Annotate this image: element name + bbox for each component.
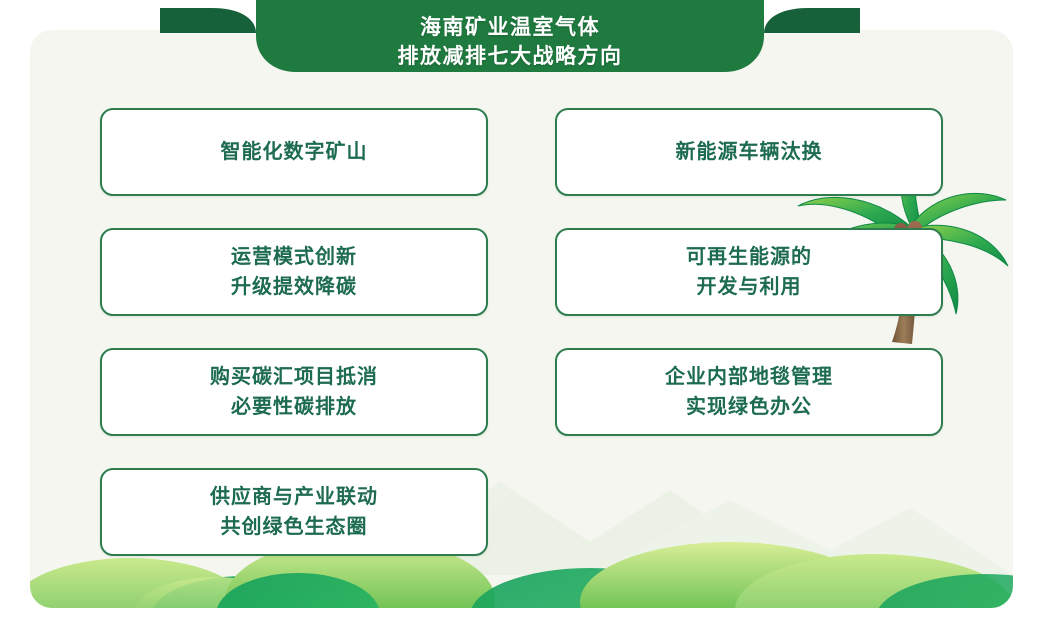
strategy-card[interactable]: 企业内部地毯管理 实现绿色办公: [555, 348, 943, 436]
card-line-1: 购买碳汇项目抵消: [210, 362, 378, 392]
content-panel: 智能化数字矿山 运营模式创新 升级提效降碳 购买碳汇项目抵消 必要性碳排放 供应…: [30, 30, 1013, 608]
card-column-left: 智能化数字矿山 运营模式创新 升级提效降碳 购买碳汇项目抵消 必要性碳排放 供应…: [100, 108, 488, 588]
strategy-card[interactable]: 可再生能源的 开发与利用: [555, 228, 943, 316]
infographic-canvas: 智能化数字矿山 运营模式创新 升级提效降碳 购买碳汇项目抵消 必要性碳排放 供应…: [0, 0, 1042, 626]
card-line-1: 供应商与产业联动: [210, 482, 378, 512]
strategy-card[interactable]: 智能化数字矿山: [100, 108, 488, 196]
card-line-2: 必要性碳排放: [231, 392, 357, 422]
banner-line-2: 排放减排七大战略方向: [398, 43, 623, 70]
strategy-card[interactable]: 新能源车辆汰换: [555, 108, 943, 196]
strategy-card[interactable]: 运营模式创新 升级提效降碳: [100, 228, 488, 316]
card-line-2: 开发与利用: [697, 272, 802, 302]
banner-text-block: 海南矿业温室气体 排放减排七大战略方向: [160, 0, 860, 84]
card-line-1: 智能化数字矿山: [221, 137, 368, 167]
card-line-1: 新能源车辆汰换: [676, 137, 823, 167]
card-line-1: 企业内部地毯管理: [665, 362, 833, 392]
card-line-2: 共创绿色生态圈: [221, 512, 368, 542]
card-line-2: 实现绿色办公: [686, 392, 812, 422]
banner-line-1: 海南矿业温室气体: [420, 14, 600, 41]
card-line-1: 可再生能源的: [686, 242, 812, 272]
title-banner: 海南矿业温室气体 排放减排七大战略方向: [160, 0, 860, 84]
strategy-card[interactable]: 购买碳汇项目抵消 必要性碳排放: [100, 348, 488, 436]
strategy-card[interactable]: 供应商与产业联动 共创绿色生态圈: [100, 468, 488, 556]
card-line-2: 升级提效降碳: [231, 272, 357, 302]
card-line-1: 运营模式创新: [231, 242, 357, 272]
card-column-right: 新能源车辆汰换 可再生能源的 开发与利用 企业内部地毯管理 实现绿色办公: [555, 108, 943, 468]
